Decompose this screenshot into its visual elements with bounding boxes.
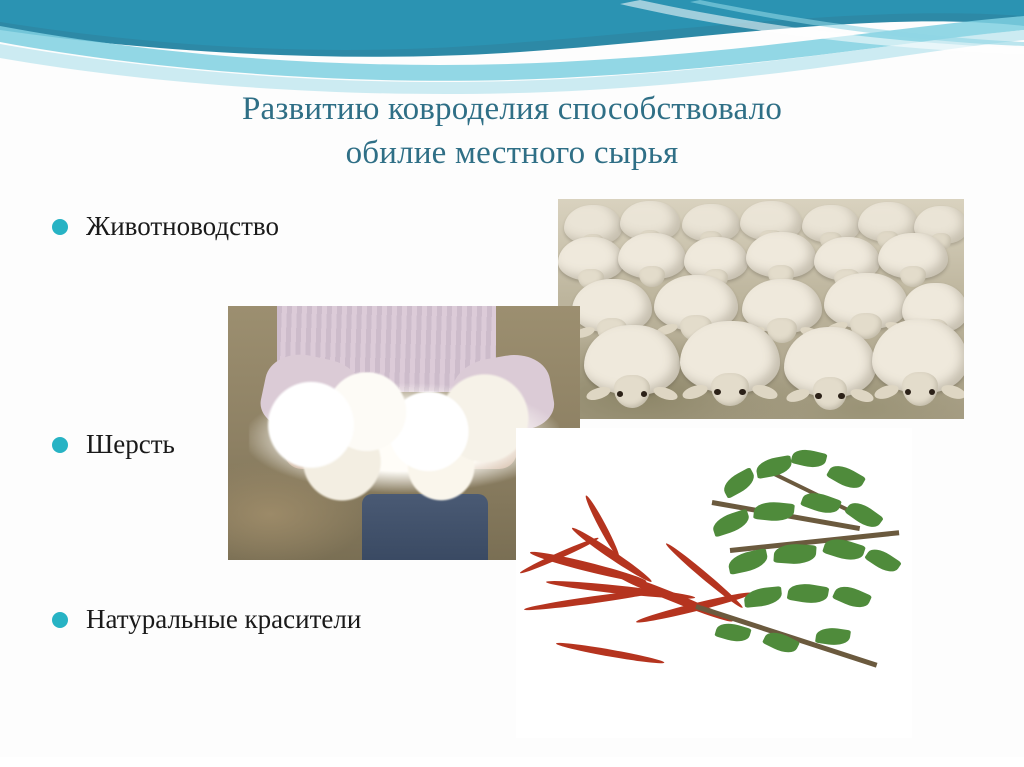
title-line-2: обилие местного сырья [60, 132, 964, 176]
sheep-flock-photo [558, 199, 964, 419]
bullet-dot-icon [52, 219, 68, 235]
sheep [878, 233, 948, 279]
sheep [618, 233, 686, 279]
bullet-item-2: Натуральные красители [52, 603, 572, 635]
sheep [558, 237, 624, 281]
sheep-eye-icon [929, 389, 936, 396]
sheep [824, 273, 908, 329]
dye-plants-photo [516, 428, 912, 738]
sheep-front [872, 319, 964, 393]
sheep-eye-icon [838, 393, 844, 399]
raw-wool-fleece [249, 372, 559, 504]
bullet-dot-icon [52, 612, 68, 628]
sheep [746, 232, 816, 278]
bullet-label: Шерсть [86, 428, 175, 460]
slide: Развитию ковроделия способствовало обили… [0, 0, 1024, 767]
sheep-front [680, 321, 780, 393]
bullet-dot-icon [52, 437, 68, 453]
sheep-front [784, 327, 876, 397]
bottom-edge [0, 757, 1024, 767]
title-line-1: Развитию ковроделия способствовало [60, 88, 964, 132]
sheep-eye-icon [617, 391, 624, 397]
sheep-eye-icon [739, 389, 746, 395]
bullet-label: Животноводство [86, 210, 279, 242]
sheep-eye-icon [905, 389, 912, 396]
bullet-label: Натуральные красители [86, 603, 361, 635]
sheep-eye-icon [714, 389, 721, 395]
sheep-front [584, 325, 680, 395]
slide-title: Развитию ковроделия способствовало обили… [60, 88, 964, 175]
bullet-item-0: Животноводство [52, 210, 572, 242]
sheep-eye-icon [641, 391, 648, 397]
sheep-eye-icon [815, 393, 821, 399]
